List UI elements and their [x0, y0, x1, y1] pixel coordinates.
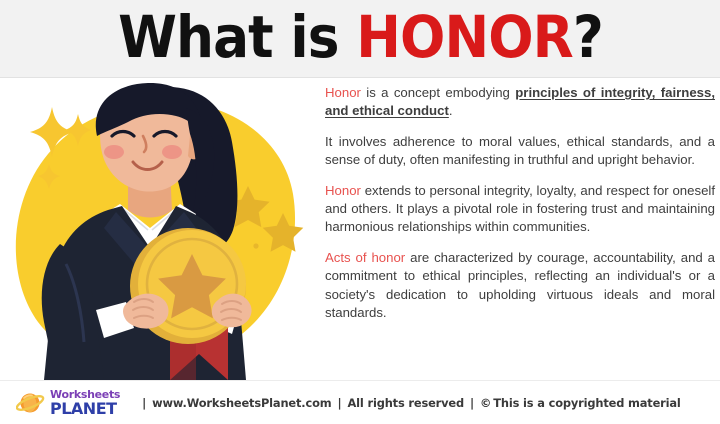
footer-website-link[interactable]: www.WorksheetsPlanet.com [152, 396, 331, 410]
main-content: Honor is a concept embodying principles … [0, 78, 720, 380]
footer-copyright-text: This is a copyrighted material [493, 396, 680, 410]
keyword-acts-of-honor: Acts of honor [325, 250, 405, 265]
footer-separator-2: | [337, 396, 341, 410]
paragraph-1: Honor is a concept embodying principles … [325, 84, 715, 121]
copyright-icon: © [480, 396, 491, 410]
logo-word-planet: PLANET [50, 401, 120, 417]
footer-credits: | www.WorksheetsPlanet.com | All rights … [136, 396, 681, 410]
paragraph-1-tail: . [449, 103, 453, 118]
illustration-woman-with-medal [0, 78, 320, 380]
header-banner: What is HONOR? [0, 0, 720, 78]
paragraph-4: Acts of honor are characterized by coura… [325, 249, 715, 323]
paragraph-1-mid: is a concept embodying [361, 85, 515, 100]
worksheets-planet-logo[interactable]: Worksheets PLANET [16, 389, 120, 417]
blush-right-icon [162, 145, 182, 159]
blush-left-icon [104, 145, 124, 159]
title-part-red: HONOR [356, 3, 573, 71]
logo-wordmark: Worksheets PLANET [50, 389, 120, 417]
planet-icon [16, 390, 46, 416]
illustration-svg [0, 78, 320, 380]
keyword-honor-2: Honor [325, 183, 361, 198]
paragraph-3: Honor extends to personal integrity, loy… [325, 182, 715, 237]
footer-rights-text: All rights reserved [348, 396, 465, 410]
paragraph-2: It involves adherence to moral values, e… [325, 133, 715, 170]
footer-separator-3: | [470, 396, 474, 410]
title-part-black-1: What is [118, 3, 356, 71]
definition-text-column: Honor is a concept embodying principles … [325, 84, 715, 376]
blob-dot-icon [253, 243, 258, 248]
worksheet-page: What is HONOR? [0, 0, 720, 424]
footer-bar: Worksheets PLANET | www.WorksheetsPlanet… [0, 380, 720, 424]
keyword-honor-1: Honor [325, 85, 361, 100]
footer-separator-1: | [142, 396, 146, 410]
title-part-black-2: ? [572, 3, 602, 71]
paragraph-3-body: extends to personal integrity, loyalty, … [325, 183, 715, 235]
logo-word-worksheets: Worksheets [50, 389, 120, 400]
page-title: What is HONOR? [118, 8, 603, 70]
